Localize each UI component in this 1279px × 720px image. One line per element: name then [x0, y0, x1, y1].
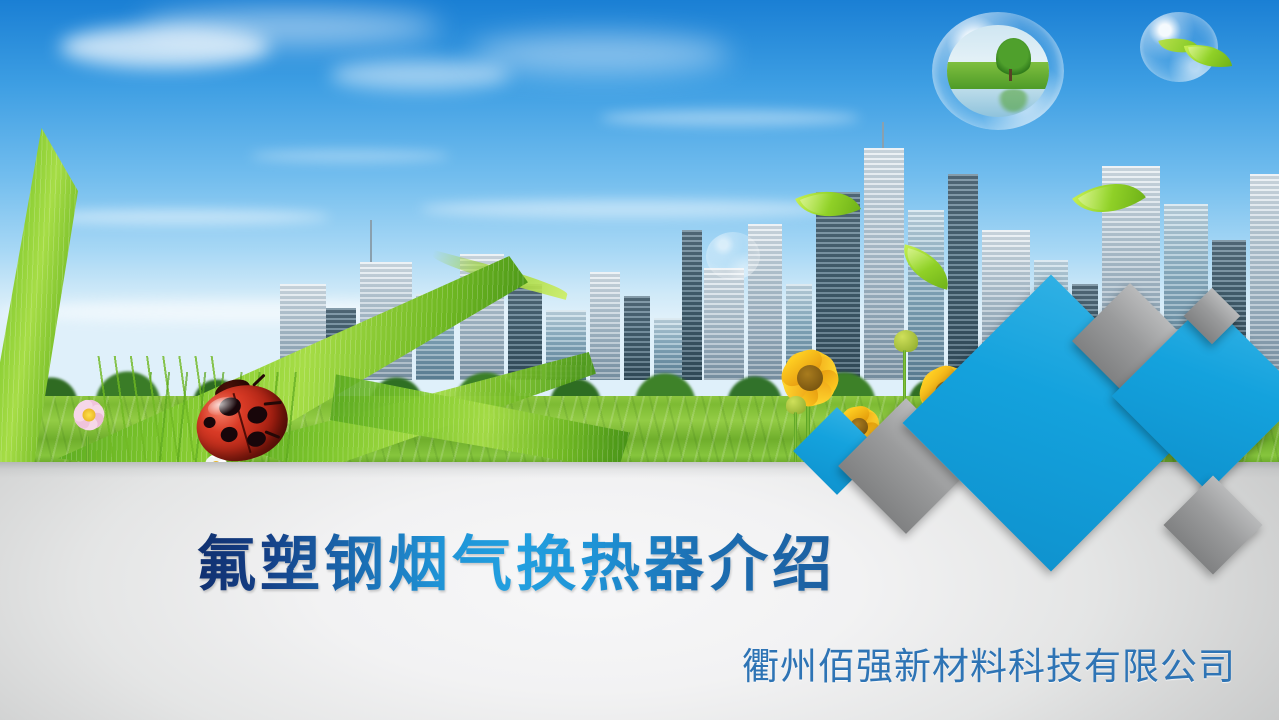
diamond-decor-group — [0, 0, 1279, 720]
page-title: 氟塑钢烟气换热器介绍 — [196, 516, 836, 603]
title-slide: 氟塑钢烟气换热器介绍 衢州佰强新材料科技有限公司 — [0, 0, 1279, 720]
company-name: 衢州佰强新材料科技有限公司 — [742, 636, 1236, 690]
diamond-gray-bottom — [1164, 476, 1263, 575]
